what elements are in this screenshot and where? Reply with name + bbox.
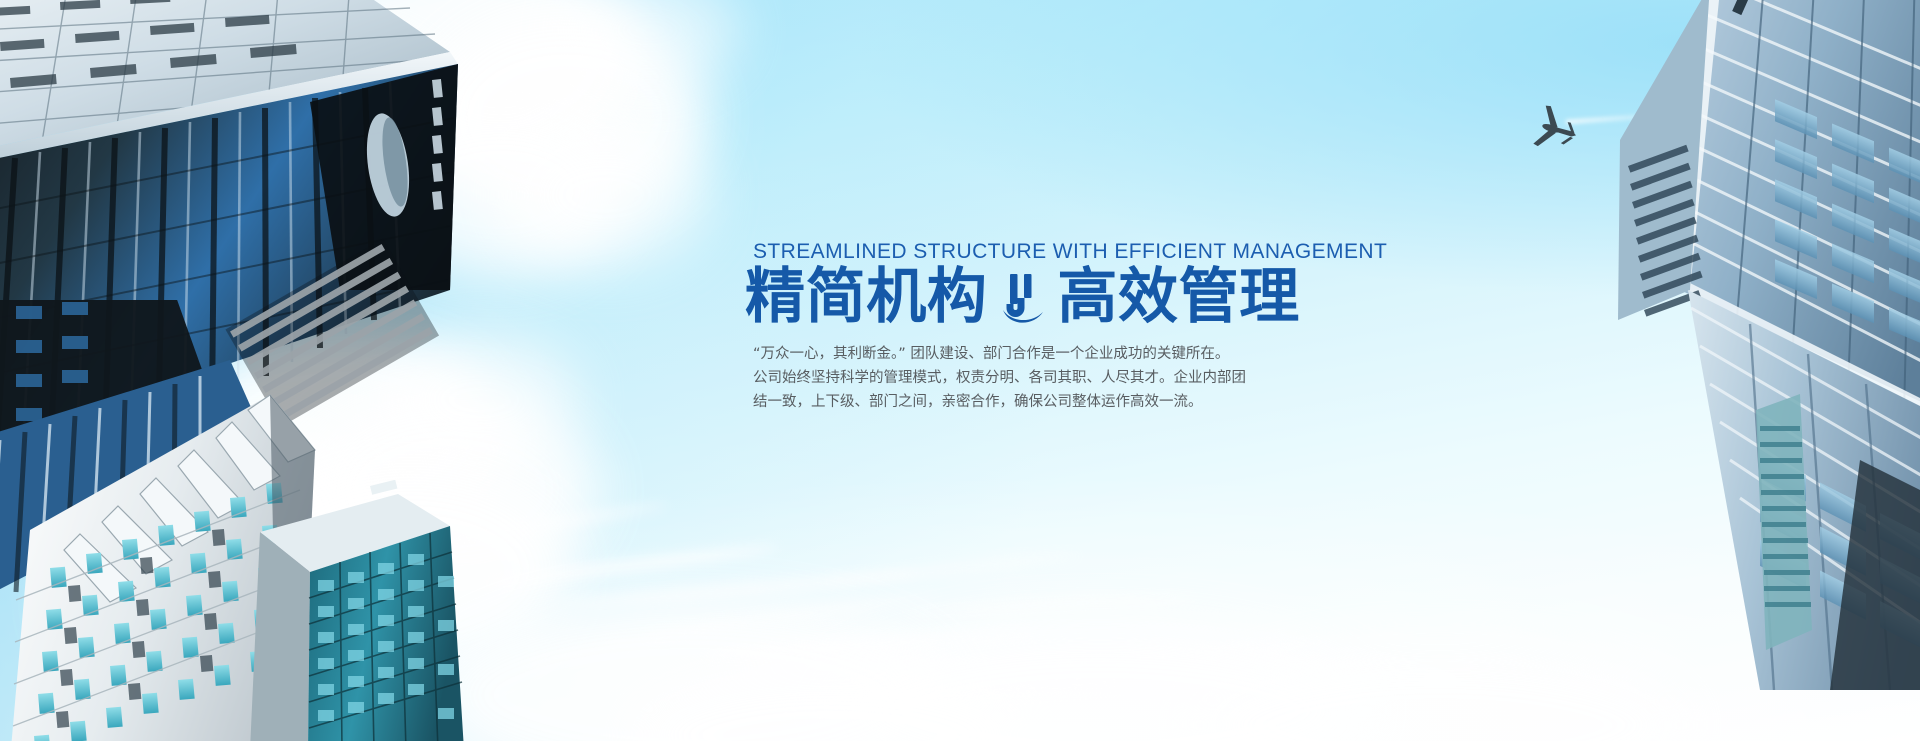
- banner-body-line: 公司始终坚持科学的管理模式，权责分明、各司其职、人尽其才。企业内部团: [753, 367, 1281, 391]
- banner-eyebrow: STREAMLINED STRUCTURE WITH EFFICIENT MAN…: [753, 240, 1305, 264]
- light-glass-skyscraper: [1560, 0, 1920, 690]
- banner-headline-row: 精简机构 高效管理: [745, 266, 1305, 329]
- banner-body-line: “万众一心，其利断金。” 团队建设、部门合作是一个企业成功的关键所在。: [753, 343, 1281, 367]
- brand-mark-icon: [997, 270, 1047, 326]
- banner-headline-left: 精简机构: [745, 266, 987, 329]
- banner-body-line: 结一致，上下级、部门之间，亲密合作，确保公司整体运作高效一流。: [753, 391, 1281, 415]
- cloud-upper-left: [500, 120, 710, 270]
- banner-headline-right: 高效管理: [1057, 266, 1299, 329]
- teal-glass-tower: [250, 480, 550, 741]
- banner-body-copy: “万众一心，其利断金。” 团队建设、部门合作是一个企业成功的关键所在。 公司始终…: [753, 343, 1281, 415]
- banner-copy: STREAMLINED STRUCTURE WITH EFFICIENT MAN…: [745, 240, 1305, 415]
- hero-banner: STREAMLINED STRUCTURE WITH EFFICIENT MAN…: [0, 0, 1920, 741]
